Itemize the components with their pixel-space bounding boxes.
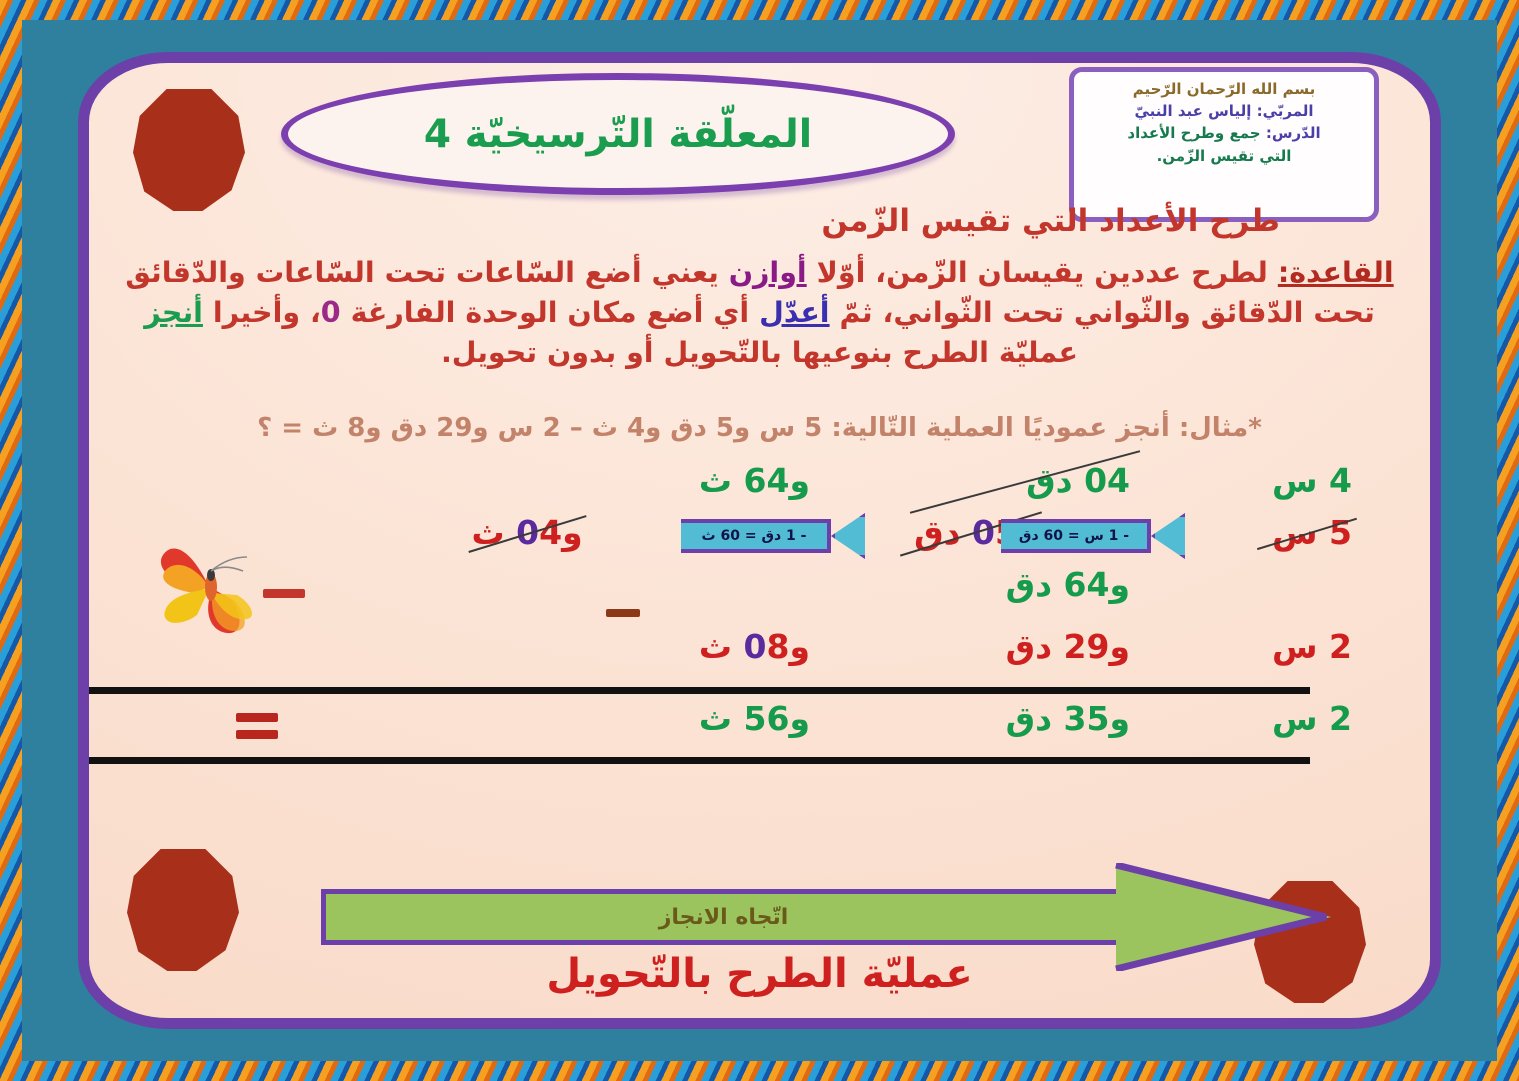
conversion-label-minutes: - 1 دق = 60 ث (681, 519, 831, 553)
teacher-value: إلياس عبد النبيّ (1134, 102, 1251, 120)
lesson-info-box: بسم الله الرّحمان الرّحيم المربّي: إلياس… (1069, 67, 1379, 222)
rule-part5: عمليّة الطرح بنوعيها بالتّحويل أو بدون ت… (441, 336, 1078, 369)
teacher-label: المربّي: (1257, 102, 1314, 120)
calc-seconds-r2: و04 ث (472, 513, 583, 552)
rule-part3: أي أضع مكان الوحدة الفارغة (351, 296, 750, 329)
calc-hours-r1: 4 س (1182, 461, 1352, 500)
direction-arrow-label: اتّجاه الانجاز (659, 905, 789, 930)
hours-unit: س (1272, 513, 1329, 552)
lesson-line: الدّرس: جمع وطرح الأعداد (1084, 122, 1364, 144)
calc-seconds-r1: و64 ث (560, 461, 810, 500)
rule-keyword-perform: أنجز (144, 296, 203, 329)
calc-hours-r2: 5 س (1261, 513, 1353, 552)
calc-row: 2 س و29 دق و08 ث (78, 627, 1370, 675)
decorative-octagon-top-left (133, 89, 245, 211)
calc-seconds-r4: و08 ث (560, 627, 810, 666)
min-unit: دق (914, 513, 972, 552)
bottom-title: عمليّة الطرح بالتّحويل (89, 951, 1430, 997)
title-badge: المعلّقة التّرسيخيّة 4 (281, 73, 955, 195)
calc-hours-result: 2 س (1182, 699, 1352, 738)
calc-seconds-result: و56 ث (560, 699, 810, 738)
butterfly-decoration (151, 535, 271, 645)
sec-conj: و (562, 513, 583, 552)
sum-divider-top (78, 687, 1310, 694)
sum-divider-bottom (78, 757, 1310, 764)
calc-row: 4 س 04 دق و64 ث (78, 461, 1370, 509)
calculation-block: 4 س 04 دق و64 ث 5 س و05 دق و04 ث (78, 461, 1370, 781)
rule-zero: 0 (321, 296, 341, 329)
sec-digit: 4 (539, 513, 562, 552)
sec-digit: 8 (767, 627, 790, 666)
conversion-arrow-minutes: - 1 دق = 60 ث (681, 513, 865, 559)
sec-unit: ث (699, 627, 744, 666)
lesson-value: جمع وطرح الأعداد (1127, 124, 1260, 142)
equals-sign (236, 713, 278, 739)
calc-minutes-r3: و64 دق (880, 565, 1130, 604)
rule-part4: ، وأخيرا (213, 296, 321, 329)
poster-card: بسم الله الرّحمان الرّحيم المربّي: إلياس… (78, 52, 1441, 1029)
calc-minutes-r1: 04 دق (1026, 461, 1130, 500)
minus-sign-minutes (606, 609, 640, 617)
calc-minutes-result: و35 دق (880, 699, 1130, 738)
teal-inner-frame: بسم الله الرّحمان الرّحيم المربّي: إلياس… (22, 20, 1497, 1061)
min-zero: 0 (972, 513, 995, 552)
arrow-left-icon (831, 513, 865, 559)
page-title: المعلّقة التّرسيخيّة 4 (424, 112, 812, 157)
conversion-label-hours: - 1 س = 60 دق (1001, 519, 1151, 553)
teacher-line: المربّي: إلياس عبد النبيّ (1084, 100, 1364, 122)
sec-zero: 0 (516, 513, 539, 552)
hours-digit: 5 (1329, 513, 1352, 552)
headline: طرح الأعداد التي تقيس الزّمن (821, 203, 1280, 239)
rule-paragraph: القاعدة: لطرح عددين يقيسان الزّمن، أوّلا… (107, 253, 1412, 373)
rule-label: القاعدة: (1278, 256, 1394, 289)
calc-minutes-r4: و29 دق (880, 627, 1130, 666)
conversion-arrow-hours: - 1 س = 60 دق (1001, 513, 1185, 559)
sec-zero: 0 (744, 627, 767, 666)
direction-arrow-shaft: اتّجاه الانجاز (321, 889, 1121, 945)
rule-part1: لطرح عددين يقيسان الزّمن، أوّلا (817, 256, 1268, 289)
lesson-label: الدّرس: (1266, 124, 1321, 142)
example-line: *مثال: أنجز عموديًا العملية التّالية: 5 … (117, 413, 1402, 443)
sec-unit: ث (472, 513, 517, 552)
arrow-left-icon (1151, 513, 1185, 559)
bismillah-text: بسم الله الرّحمان الرّحيم (1084, 78, 1364, 100)
lesson-value-2: التي تقيس الزّمن. (1084, 145, 1364, 167)
rule-keyword-balance: أوازن (729, 256, 807, 289)
rule-keyword-adjust: أعدّل (759, 296, 829, 329)
sec-conj: و (789, 627, 810, 666)
poster-root: بسم الله الرّحمان الرّحيم المربّي: إلياس… (0, 0, 1519, 1081)
calc-hours-r4: 2 س (1182, 627, 1352, 666)
